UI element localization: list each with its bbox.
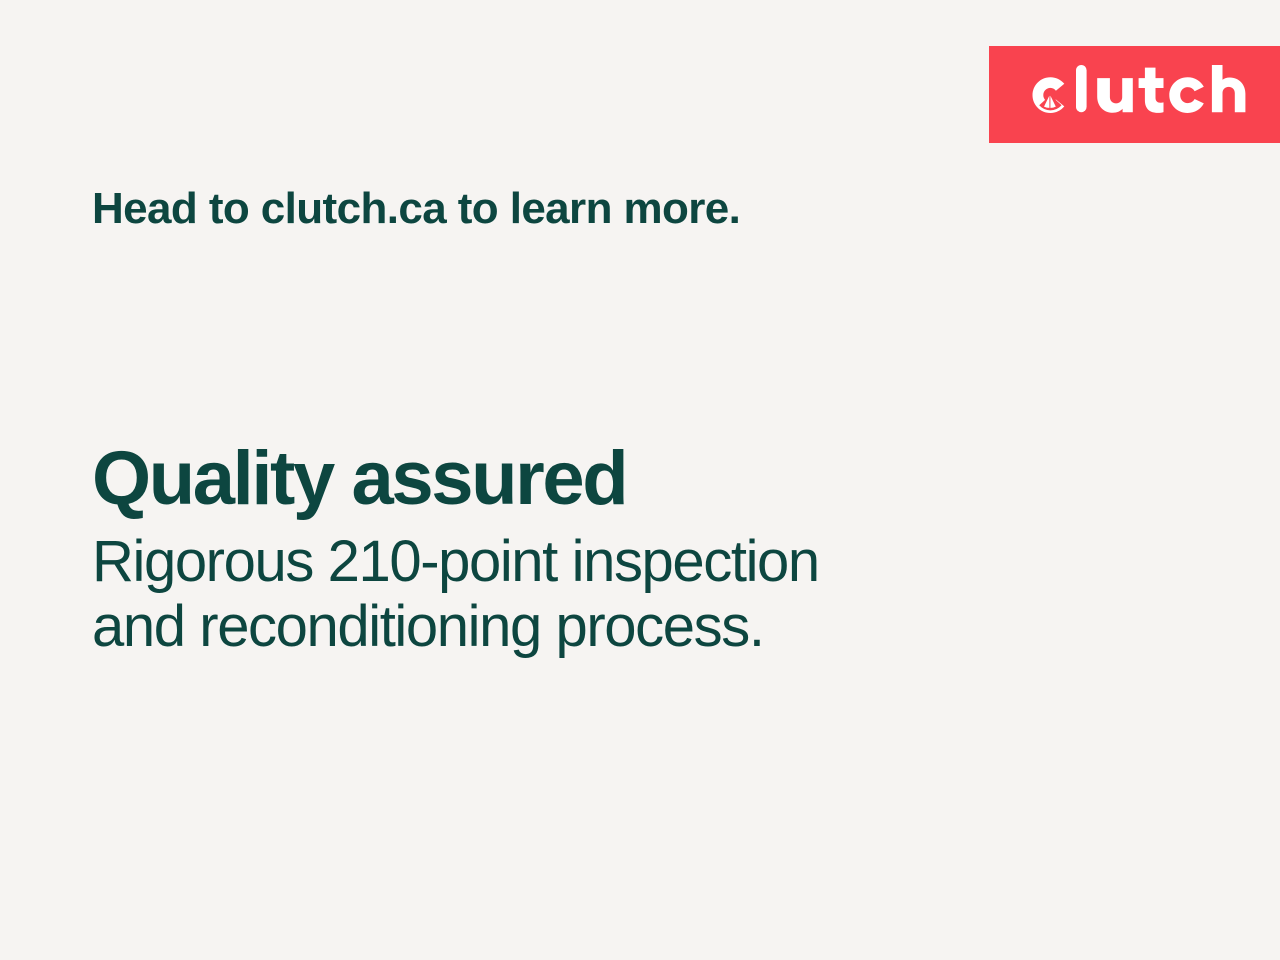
- page-subtitle-line-2: and reconditioning process.: [92, 594, 992, 659]
- kicker-text: Head to clutch.ca to learn more.: [92, 181, 740, 237]
- clutch-logo-icon: [1020, 64, 1246, 126]
- page-subtitle: Rigorous 210-point inspection and recond…: [92, 529, 992, 659]
- slide-canvas: Head to clutch.ca to learn more. Quality…: [0, 0, 1280, 960]
- clutch-logo-badge[interactable]: [989, 46, 1280, 143]
- page-subtitle-line-1: Rigorous 210-point inspection: [92, 529, 992, 594]
- page-title: Quality assured: [92, 437, 992, 521]
- headline-block: Quality assured Rigorous 210-point inspe…: [92, 437, 992, 659]
- clutch-wordmark: [1020, 46, 1246, 143]
